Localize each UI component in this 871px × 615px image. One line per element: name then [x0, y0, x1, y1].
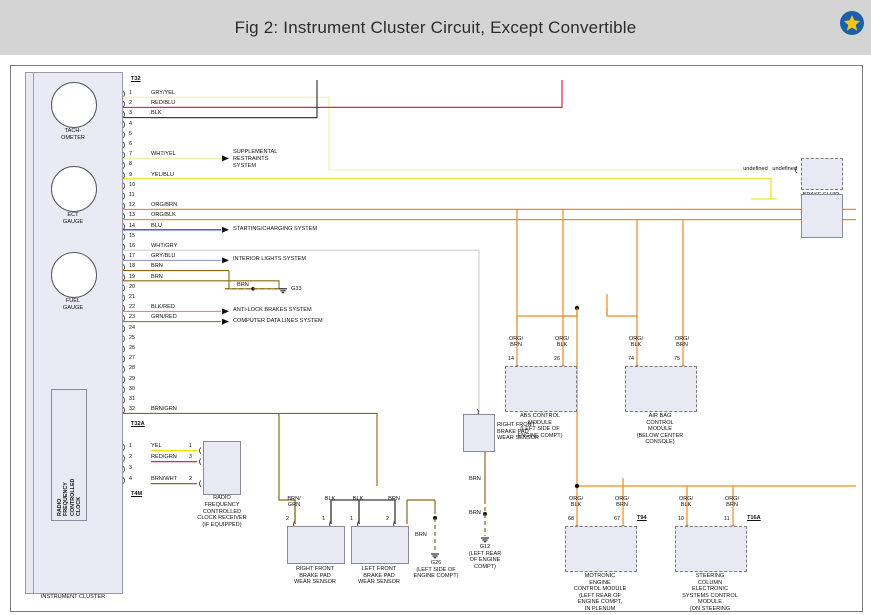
left-front-brake-pad-wear-sensor-wire: BRN [388, 496, 400, 502]
oil-pressure-switch-box[interactable] [463, 414, 495, 452]
air-bag-control-module-label: AIR BAG CONTROL MODULE (BELOW CENTER CON… [611, 413, 709, 446]
left-front-brake-pad-wear-sensor-box[interactable] [351, 526, 409, 564]
steering-column-module-pin: 11 [724, 516, 730, 522]
page-header: Fig 2: Instrument Cluster Circuit, Excep… [0, 0, 871, 55]
t32-pin-number: 21 [129, 294, 135, 300]
radio-clock-pin-number: 3 [189, 454, 192, 460]
t32-pin-number: 23 [129, 314, 135, 320]
motronic-engine-control-module-box[interactable] [565, 526, 637, 572]
gauge-dial [51, 252, 97, 298]
right-front-brake-pad-wear-sensor-box[interactable] [287, 526, 345, 564]
t32-wire-label: ORG/BRN [151, 202, 177, 208]
t32-pin-number: 13 [129, 212, 135, 218]
t4m-pin-number: 4 [129, 476, 132, 482]
motronic-engine-control-module-label: MOTRONIC ENGINE CONTROL MODULE (LEFT REA… [551, 573, 649, 612]
abs-control-module-box[interactable] [505, 366, 577, 412]
t32-pin-number: 26 [129, 345, 135, 351]
t32-pin-number: 10 [129, 182, 135, 188]
connector-t94-label: T94 [637, 515, 647, 522]
t32-pin-number: 9 [129, 172, 132, 178]
abs-control-module-wire: ORG/ BLK [555, 336, 569, 348]
t32-pin-number: 32 [129, 406, 135, 412]
left-front-brake-pad-wear-sensor-pin: 2 [386, 516, 389, 522]
air-bag-control-module-pin: 75 [674, 356, 680, 362]
connector-t4m-label: T4M [131, 491, 142, 498]
gauge-dial [51, 166, 97, 212]
gauge-dial [51, 82, 97, 128]
callout-starting-charging: STARTING/CHARGING SYSTEM [233, 226, 317, 233]
wiring-diagram: INSTRUMENT CLUSTERTACH- OMETERECT GAUGEF… [10, 65, 863, 612]
t32-pin-number: 16 [129, 243, 135, 249]
abs-control-module-pin: 26 [554, 356, 560, 362]
t32-pin-number: 2 [129, 100, 132, 106]
radio-clock-pin-number: 2 [189, 476, 192, 482]
steering-column-module-pin: 10 [678, 516, 684, 522]
gauge-label: TACH- OMETER [43, 128, 103, 141]
t32-wire-label: BLK/RED [151, 304, 175, 310]
t32-wire-label: ORG/BLK [151, 212, 176, 218]
brake-fluid-switch-box[interactable] [801, 194, 843, 238]
t32-pin-number: 7 [129, 151, 132, 157]
t32-wire-label: RED/BLU [151, 100, 175, 106]
t32-pin-number: 8 [129, 161, 132, 167]
page-title: Fig 2: Instrument Cluster Circuit, Excep… [0, 0, 871, 55]
air-bag-control-module-box[interactable] [625, 366, 697, 412]
t32-pin-number: 17 [129, 253, 135, 259]
ground-g26-label: G26 (LEFT SIDE OF ENGINE COMPT) [405, 560, 467, 580]
t32-pin-number: 5 [129, 131, 132, 137]
connector-t32-label: T32 [131, 76, 141, 83]
instrument-cluster-label: INSTRUMENT CLUSTER [25, 594, 121, 601]
right-front-brake-pad-wear-sensor-pin: 2 [286, 516, 289, 522]
tiptronic-wire: undefined undefined [743, 166, 797, 172]
steering-column-module-box[interactable] [675, 526, 747, 572]
t32-wire-label: YEL/BLU [151, 172, 174, 178]
radio-clock-pin-number: 1 [189, 443, 192, 449]
t32-pin-number: 4 [129, 121, 132, 127]
t32-wire-label: GRY/BLU [151, 253, 175, 259]
t32-pin-number: 29 [129, 376, 135, 382]
left-front-brake-pad-wear-sensor-pin: 1 [350, 516, 353, 522]
motronic-engine-control-module-wire: ORG/ BRN [615, 496, 629, 508]
t32-pin-number: 19 [129, 274, 135, 280]
t4m-wire-label: YEL [151, 443, 162, 449]
air-bag-control-module-wire: ORG/ BRN [675, 336, 689, 348]
t32-wire-label: WHT/YEL [151, 151, 176, 157]
t32-wire-label: GRN/RED [151, 314, 177, 320]
t32-wire-label: BRN [151, 263, 163, 269]
steering-column-module-wire: ORG/ BRN [725, 496, 739, 508]
t32-pin-number: 15 [129, 233, 135, 239]
motronic-engine-control-module-pin: 67 [614, 516, 620, 522]
oil-pressure-switch-label: RIGHT FRONT BRAKE PAD WEAR SENSOR [497, 422, 539, 442]
t32-pin-number: 24 [129, 325, 135, 331]
steering-column-module-wire: ORG/ BLK [679, 496, 693, 508]
t32-pin-number: 28 [129, 365, 135, 371]
t4m-pin-number: 3 [129, 465, 132, 471]
t32-wire-label: BLK [151, 110, 162, 116]
radio-clock-block-label: RADIO FREQUENCY CONTROLLED CLOCK [57, 390, 83, 516]
steering-column-module-label: STEERING COLUMN ELECTRONIC SYSTEMS CONTR… [661, 573, 759, 612]
t32-wire-label: BLU [151, 223, 162, 229]
gauge-label: ECT GAUGE [43, 212, 103, 225]
radio-clock-receiver-label: RADIO FREQUENCY CONTROLLED CLOCK RECEIVE… [191, 495, 253, 528]
t4m-pin-number: 2 [129, 454, 132, 460]
t32-pin-number: 12 [129, 202, 135, 208]
t32-pin-number: 6 [129, 141, 132, 147]
ground-wire-label: BRN [237, 282, 249, 288]
star-circle-icon[interactable] [839, 10, 865, 36]
t32-wire-label: GRY/YEL [151, 90, 175, 96]
t32-pin-number: 3 [129, 110, 132, 116]
ground-g33-label: G33 [291, 286, 302, 293]
callout-abs: ANTI-LOCK BRAKES SYSTEM [233, 307, 312, 314]
right-front-brake-pad-wear-sensor-wire: BLK [325, 496, 336, 502]
t4m-wire-label: RED/GRN [151, 454, 177, 460]
t32-pin-number: 11 [129, 192, 135, 198]
t32-wire-label: WHT/GRY [151, 243, 177, 249]
right-front-brake-pad-wear-sensor-wire: BRN/ GRN [287, 496, 300, 508]
left-front-brake-pad-wear-sensor-wire: BLK [353, 496, 364, 502]
t32-pin-number: 14 [129, 223, 135, 229]
t32-pin-number: 25 [129, 335, 135, 341]
t4m-pin-number: 1 [129, 443, 132, 449]
g26-wire: BRN [415, 532, 427, 538]
oil-pressure-ground-wire-2: BRN [469, 510, 481, 516]
t32-pin-number: 31 [129, 396, 135, 402]
t32-pin-number: 18 [129, 263, 135, 269]
motronic-engine-control-module-wire: ORG/ BLK [569, 496, 583, 508]
tiptronic-switch-box[interactable] [801, 158, 843, 190]
connector-t16a-label: T16A [747, 515, 761, 522]
motronic-engine-control-module-pin: 68 [568, 516, 574, 522]
connector-t32a-label: T32A [131, 421, 145, 428]
radio-clock-receiver-box[interactable] [203, 441, 241, 495]
abs-control-module-pin: 14 [508, 356, 514, 362]
gauge-label: FUEL GAUGE [43, 298, 103, 311]
oil-pressure-ground-wire: BRN [469, 476, 481, 482]
t32-pin-number: 27 [129, 355, 135, 361]
callout-interior-lights: INTERIOR LIGHTS SYSTEM [233, 256, 306, 263]
t32-pin-number: 1 [129, 90, 132, 96]
t32-pin-number: 22 [129, 304, 135, 310]
air-bag-control-module-wire: ORG/ BLK [629, 336, 643, 348]
abs-control-module-wire: ORG/ BRN [509, 336, 523, 348]
t32-wire-label: BRN/GRN [151, 406, 177, 412]
t32-wire-label: BRN [151, 274, 163, 280]
t4m-wire-label: BRN/WHT [151, 476, 177, 482]
t32-pin-number: 30 [129, 386, 135, 392]
right-front-brake-pad-wear-sensor-pin: 1 [322, 516, 325, 522]
callout-srs: SUPPLEMENTAL RESTRAINTS SYSTEM [233, 149, 277, 169]
t32-pin-number: 20 [129, 284, 135, 290]
air-bag-control-module-pin: 74 [628, 356, 634, 362]
callout-data-lines: COMPUTER DATA LINES SYSTEM [233, 318, 323, 325]
